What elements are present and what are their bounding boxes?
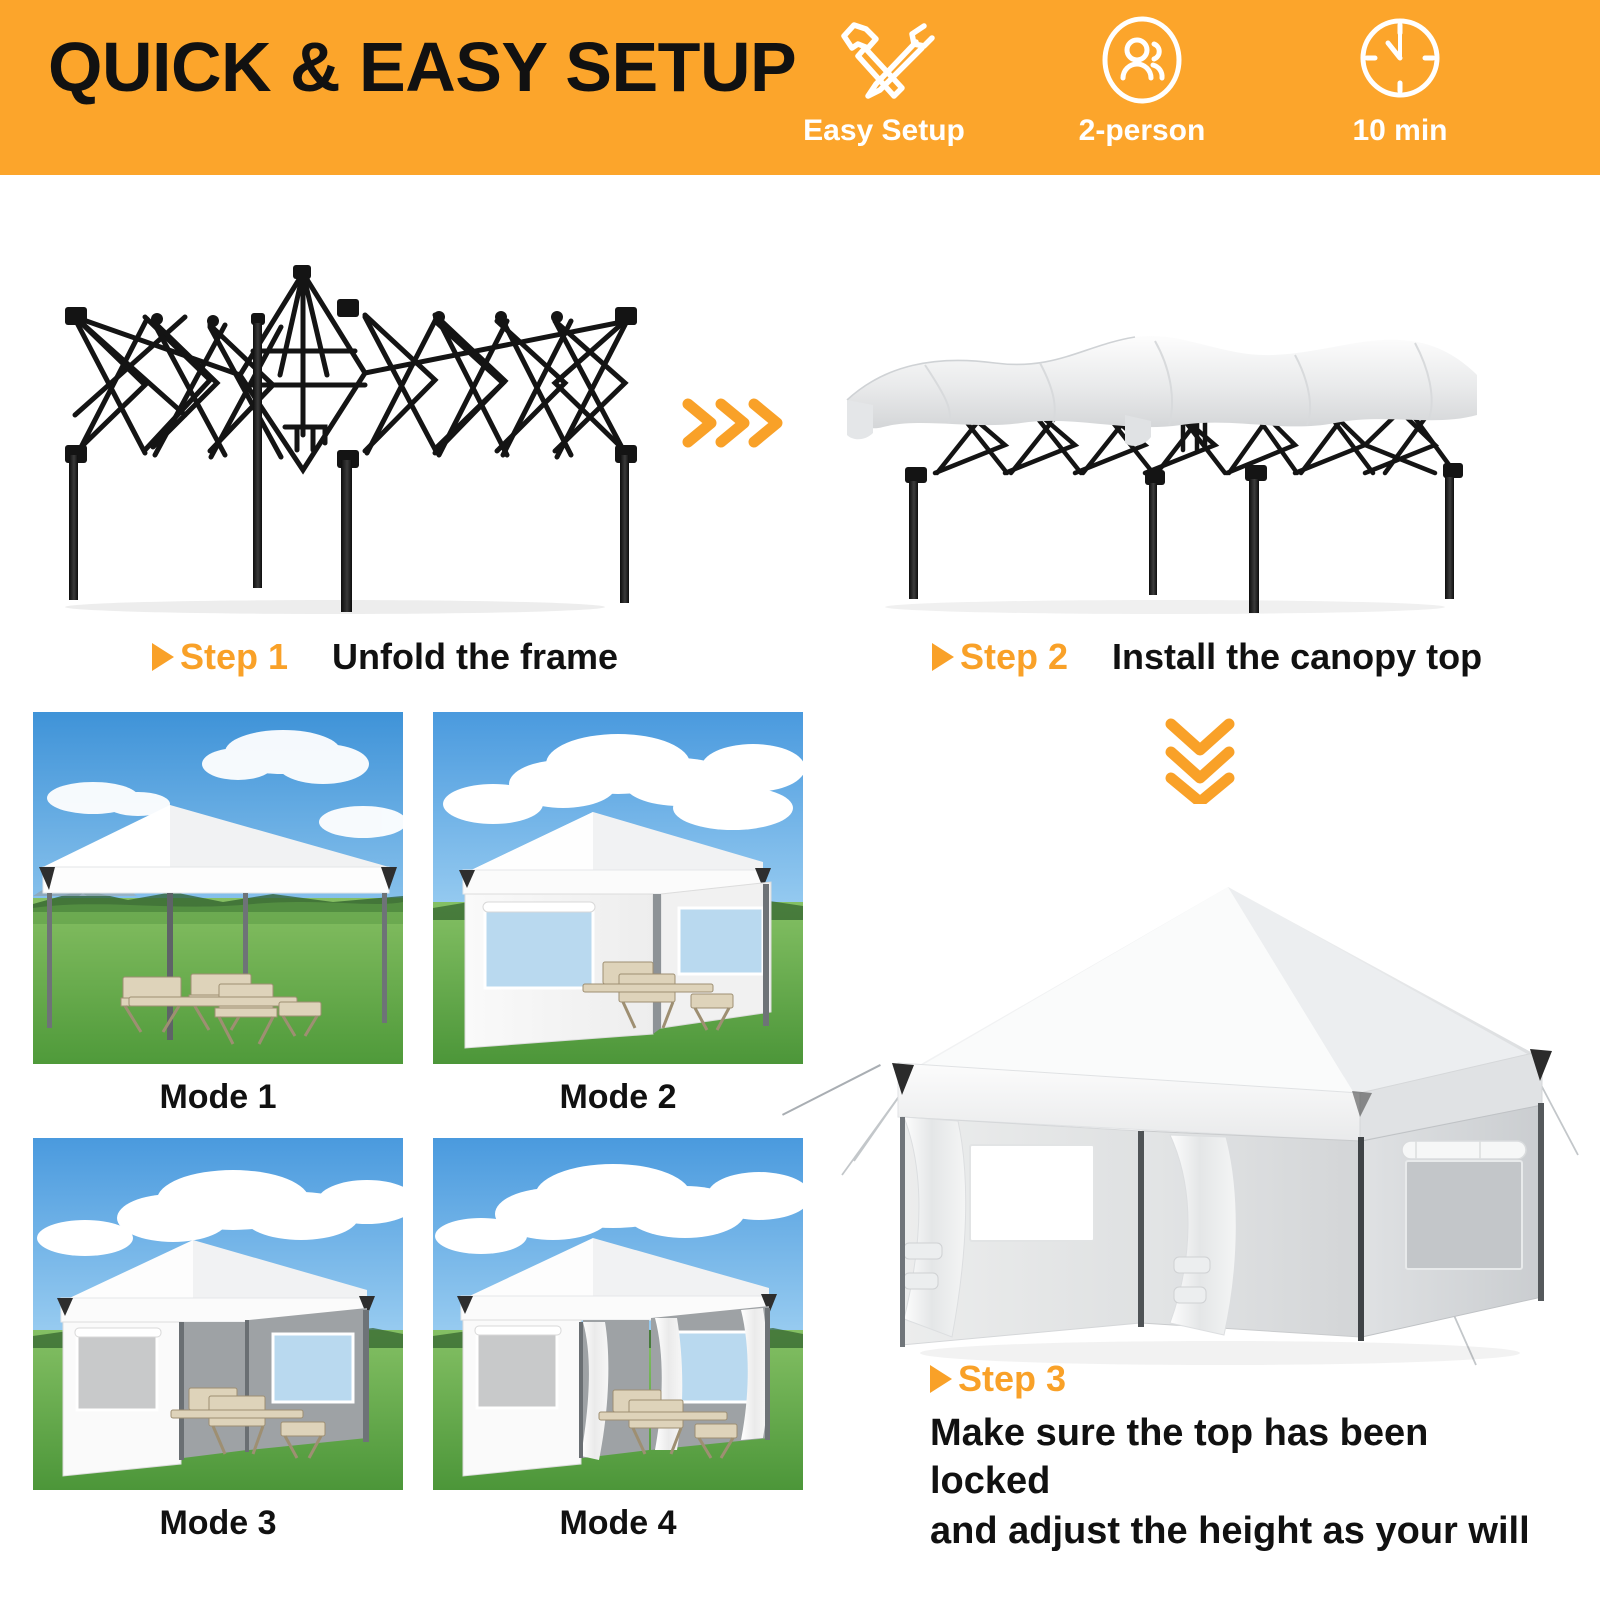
page-title: QUICK & EASY SETUP	[48, 32, 796, 102]
step-3-caption: Step 3 Make sure the top has been locked…	[930, 1358, 1550, 1556]
mode-2-card: Mode 2	[433, 712, 803, 1117]
feature-badges: Easy Setup 2-person	[794, 10, 1490, 148]
step-2-text: Install the canopy top	[1112, 636, 1482, 678]
mode-2-photo	[433, 712, 803, 1064]
mode-3-photo	[33, 1138, 403, 1490]
clock-icon	[1348, 10, 1452, 110]
step-3-heading: Step 3	[930, 1358, 1550, 1400]
step-3-label: Step 3	[958, 1358, 1066, 1400]
step-1-illustration	[35, 255, 685, 615]
feature-label: 2-person	[1079, 114, 1206, 148]
mode-1-card: Mode 1	[33, 712, 403, 1117]
step-1-text: Unfold the frame	[332, 636, 618, 678]
header-banner: QUICK & EASY SETUP Easy Setup	[0, 0, 1600, 175]
step-1-caption: Step 1 Unfold the frame	[152, 636, 618, 678]
arrow-right-chevrons	[678, 392, 788, 454]
feature-easy-setup: Easy Setup	[794, 10, 974, 148]
mode-1-photo	[33, 712, 403, 1064]
mode-3-caption: Mode 3	[33, 1504, 403, 1543]
step-3-illustration	[840, 845, 1580, 1375]
triangle-bullet-icon	[932, 643, 954, 671]
feature-label: Easy Setup	[803, 114, 965, 148]
mode-4-card: Mode 4	[433, 1138, 803, 1543]
hammer-wrench-icon	[832, 10, 936, 110]
feature-ten-min: 10 min	[1310, 10, 1490, 148]
step-2-caption: Step 2 Install the canopy top	[932, 636, 1482, 678]
triangle-bullet-icon	[930, 1365, 952, 1393]
step-2-label: Step 2	[960, 636, 1068, 678]
step-2-illustration	[825, 245, 1485, 620]
mode-3-card: Mode 3	[33, 1138, 403, 1543]
feature-two-person: 2-person	[1052, 10, 1232, 148]
step-1-label: Step 1	[180, 636, 288, 678]
mode-1-caption: Mode 1	[33, 1078, 403, 1117]
triangle-bullet-icon	[152, 643, 174, 671]
arrow-down-chevrons	[1155, 712, 1245, 804]
feature-label: 10 min	[1352, 114, 1447, 148]
step-3-line-1: Make sure the top has been locked	[930, 1410, 1550, 1506]
mode-2-caption: Mode 2	[433, 1078, 803, 1117]
step-3-line-2: and adjust the height as your will	[930, 1508, 1550, 1556]
mode-4-photo	[433, 1138, 803, 1490]
mode-4-caption: Mode 4	[433, 1504, 803, 1543]
two-person-icon	[1090, 10, 1194, 110]
